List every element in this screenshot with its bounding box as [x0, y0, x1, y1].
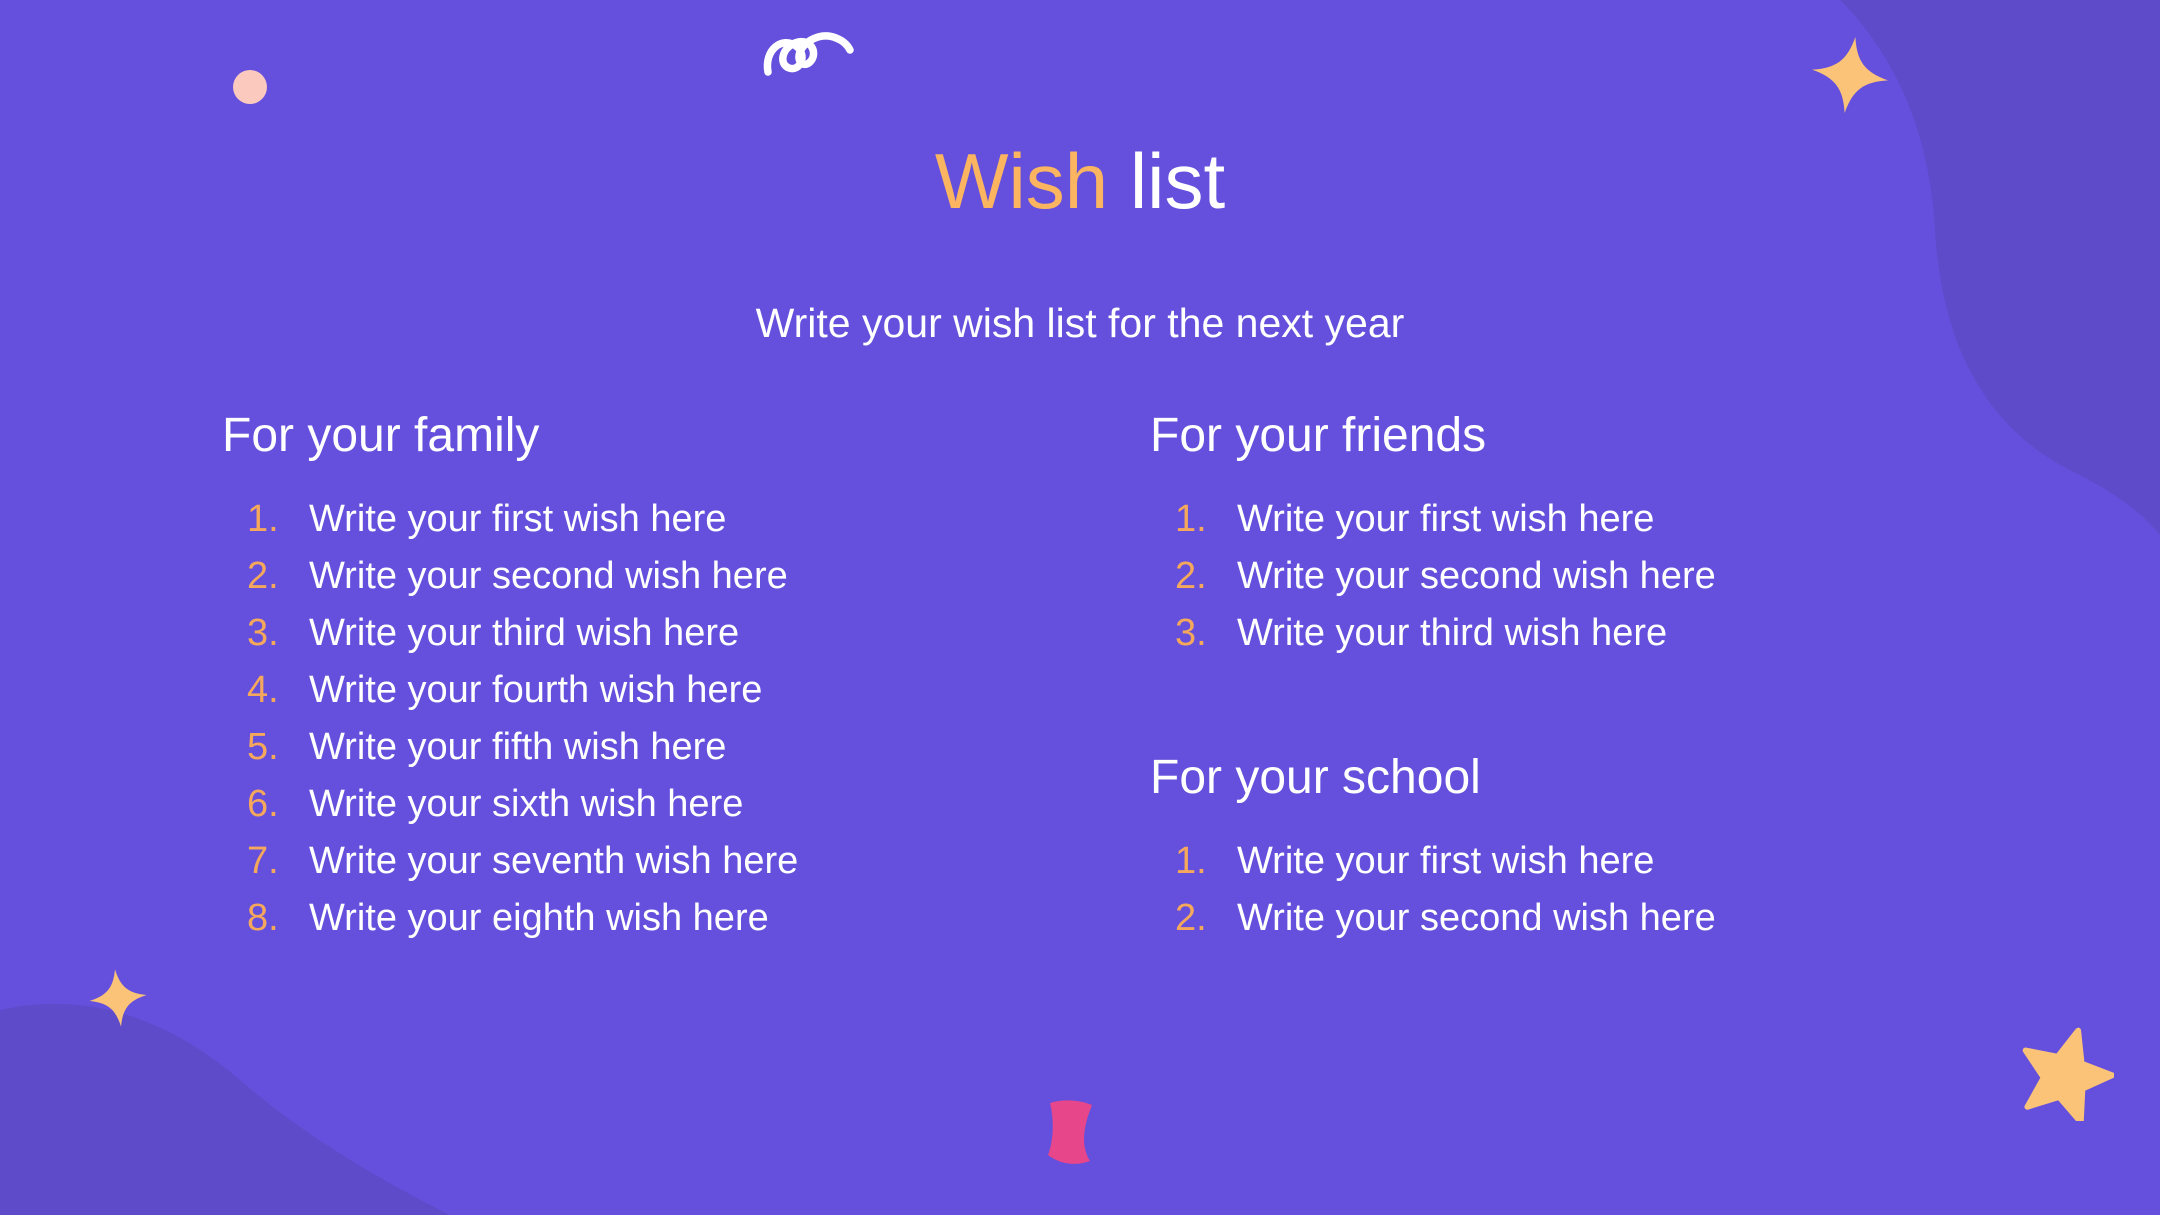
list-item-number: 7. — [247, 833, 309, 890]
list-item[interactable]: 3. Write your third wish here — [1150, 605, 1970, 662]
list-item[interactable]: 2. Write your second wish here — [1150, 890, 1970, 947]
page-title-accent: Wish — [935, 137, 1108, 225]
list-item-number: 1. — [1175, 833, 1237, 890]
list-item[interactable]: 4. Write your fourth wish here — [222, 662, 1022, 719]
list-item-number: 2. — [247, 548, 309, 605]
wish-list: 1. Write your first wish here 2. Write y… — [1150, 833, 1970, 947]
list-item[interactable]: 7. Write your seventh wish here — [222, 833, 1022, 890]
wish-group-friends: For your friends 1. Write your first wis… — [1150, 408, 1970, 662]
slide-canvas: Wish list Write your wish list for the n… — [0, 0, 2160, 1215]
list-item[interactable]: 1. Write your first wish here — [1150, 833, 1970, 890]
list-item[interactable]: 5. Write your fifth wish here — [222, 719, 1022, 776]
group-heading: For your friends — [1150, 408, 1970, 463]
page-title-rest: list — [1108, 137, 1225, 225]
list-item[interactable]: 6. Write your sixth wish here — [222, 776, 1022, 833]
list-item-number: 3. — [1175, 605, 1237, 662]
column-left: For your family 1. Write your first wish… — [222, 408, 1022, 947]
wish-group-family: For your family 1. Write your first wish… — [222, 408, 1022, 947]
wish-list: 1. Write your first wish here 2. Write y… — [222, 491, 1022, 947]
list-item-text: Write your fourth wish here — [309, 662, 762, 719]
list-item-number: 8. — [247, 890, 309, 947]
list-item-text: Write your second wish here — [1237, 890, 1716, 947]
list-item-number: 5. — [247, 719, 309, 776]
wish-list: 1. Write your first wish here 2. Write y… — [1150, 491, 1970, 662]
list-item-number: 3. — [247, 605, 309, 662]
list-item-text: Write your third wish here — [309, 605, 739, 662]
list-item[interactable]: 3. Write your third wish here — [222, 605, 1022, 662]
list-item-number: 6. — [247, 776, 309, 833]
list-item[interactable]: 2. Write your second wish here — [1150, 548, 1970, 605]
list-item-text: Write your second wish here — [1237, 548, 1716, 605]
list-item-number: 2. — [1175, 548, 1237, 605]
page-title: Wish list — [0, 142, 2160, 220]
group-heading: For your school — [1150, 750, 1970, 805]
list-item-text: Write your third wish here — [1237, 605, 1667, 662]
list-item-number: 2. — [1175, 890, 1237, 947]
column-right: For your friends 1. Write your first wis… — [1150, 408, 1970, 947]
list-item-text: Write your seventh wish here — [309, 833, 798, 890]
list-item[interactable]: 2. Write your second wish here — [222, 548, 1022, 605]
list-item-text: Write your sixth wish here — [309, 776, 743, 833]
list-item[interactable]: 1. Write your first wish here — [1150, 491, 1970, 548]
slide-content: Wish list Write your wish list for the n… — [0, 0, 2160, 1215]
list-item[interactable]: 1. Write your first wish here — [222, 491, 1022, 548]
list-item[interactable]: 8. Write your eighth wish here — [222, 890, 1022, 947]
list-item-text: Write your first wish here — [1237, 833, 1654, 890]
list-item-text: Write your first wish here — [309, 491, 726, 548]
page-subtitle: Write your wish list for the next year — [0, 300, 2160, 347]
list-item-text: Write your second wish here — [309, 548, 788, 605]
list-item-number: 1. — [247, 491, 309, 548]
list-item-text: Write your fifth wish here — [309, 719, 726, 776]
list-item-number: 1. — [1175, 491, 1237, 548]
list-item-text: Write your eighth wish here — [309, 890, 769, 947]
list-item-text: Write your first wish here — [1237, 491, 1654, 548]
list-item-number: 4. — [247, 662, 309, 719]
group-heading: For your family — [222, 408, 1022, 463]
wish-group-school: For your school 1. Write your first wish… — [1150, 750, 1970, 947]
